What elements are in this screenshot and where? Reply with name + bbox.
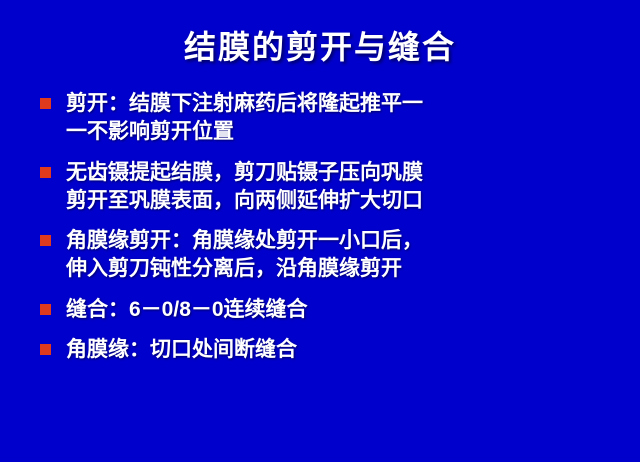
- bullet-list: 剪开：结膜下注射麻药后将隆起推平一 一不影响剪开位置 无齿镊提起结膜，剪刀贴镊子…: [0, 90, 640, 364]
- square-bullet-icon: [40, 167, 51, 178]
- list-item: 缝合：6－0/8－0连续缝合: [66, 296, 610, 324]
- list-item-text: 缝合：6－0/8－0连续缝合: [66, 296, 610, 324]
- list-item: 角膜缘：切口处间断缝合: [66, 336, 610, 364]
- list-item: 角膜缘剪开：角膜缘处剪开一小口后， 伸入剪刀钝性分离后，沿角膜缘剪开: [66, 227, 610, 282]
- list-item: 剪开：结膜下注射麻药后将隆起推平一 一不影响剪开位置: [66, 90, 610, 145]
- list-item-text: 无齿镊提起结膜，剪刀贴镊子压向巩膜 剪开至巩膜表面，向两侧延伸扩大切口: [66, 159, 610, 214]
- square-bullet-icon: [40, 235, 51, 246]
- square-bullet-icon: [40, 98, 51, 109]
- list-item: 无齿镊提起结膜，剪刀贴镊子压向巩膜 剪开至巩膜表面，向两侧延伸扩大切口: [66, 159, 610, 214]
- presentation-slide: 结膜的剪开与缝合 剪开：结膜下注射麻药后将隆起推平一 一不影响剪开位置 无齿镊提…: [0, 0, 640, 462]
- list-item-text: 角膜缘剪开：角膜缘处剪开一小口后， 伸入剪刀钝性分离后，沿角膜缘剪开: [66, 227, 610, 282]
- list-item-text: 角膜缘：切口处间断缝合: [66, 336, 610, 364]
- square-bullet-icon: [40, 304, 51, 315]
- list-item-text: 剪开：结膜下注射麻药后将隆起推平一 一不影响剪开位置: [66, 90, 610, 145]
- square-bullet-icon: [40, 344, 51, 355]
- page-title: 结膜的剪开与缝合: [0, 0, 640, 72]
